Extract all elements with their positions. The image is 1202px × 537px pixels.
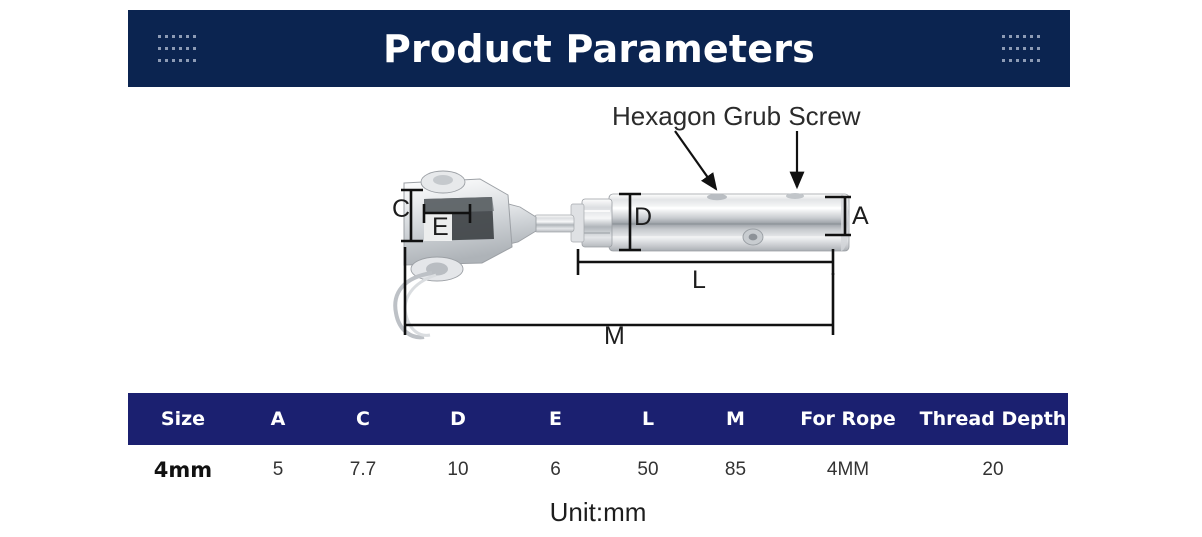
cell-a: 5: [238, 445, 318, 495]
grub-screw-hole-left: [707, 194, 727, 200]
split-ring-wire: [395, 273, 432, 337]
col-header-e: E: [508, 393, 603, 445]
dot-grid-decoration-left: [158, 35, 196, 62]
hex-collar: [582, 199, 612, 247]
spec-table: Size A C D E L M For Rope Thread Depth 4…: [128, 393, 1068, 495]
col-header-thread-depth: Thread Depth: [918, 393, 1068, 445]
dimension-label-D: D: [634, 205, 652, 230]
product-diagram-svg: [0, 87, 1202, 387]
spec-table-wrapper: Size A C D E L M For Rope Thread Depth 4…: [128, 393, 1068, 495]
page-title: Product Parameters: [128, 30, 1070, 68]
dimension-label-A: A: [852, 204, 869, 229]
col-header-l: L: [603, 393, 693, 445]
unit-note: Unit:mm: [128, 497, 1068, 528]
col-header-c: C: [318, 393, 408, 445]
dimension-label-E: E: [432, 215, 449, 240]
callout-arrow-left: [675, 131, 716, 189]
cell-d: 10: [408, 445, 508, 495]
dot-grid-decoration-right: [1002, 35, 1040, 62]
col-header-d: D: [408, 393, 508, 445]
grub-screw-hole-right: [786, 193, 804, 199]
dimension-label-M: M: [604, 324, 625, 349]
col-header-for-rope: For Rope: [778, 393, 918, 445]
cell-m: 85: [693, 445, 778, 495]
cell-c: 7.7: [318, 445, 408, 495]
page-header-banner: Product Parameters: [128, 10, 1070, 87]
col-header-m: M: [693, 393, 778, 445]
threaded-shank: [534, 215, 574, 232]
cell-e: 6: [508, 445, 603, 495]
dimension-label-L: L: [692, 268, 706, 293]
table-row: 4mm 5 7.7 10 6 50 85 4MM 20: [128, 445, 1068, 495]
cell-thread-depth: 20: [918, 445, 1068, 495]
col-header-a: A: [238, 393, 318, 445]
callout-label-hexagon-grub-screw: Hexagon Grub Screw: [612, 101, 861, 132]
spec-table-header-row: Size A C D E L M For Rope Thread Depth: [128, 393, 1068, 445]
dimension-label-C: C: [392, 197, 410, 222]
col-header-size: Size: [128, 393, 238, 445]
cell-l: 50: [603, 445, 693, 495]
product-diagram: Hexagon Grub Screw C E D A L M: [0, 87, 1202, 387]
cell-for-rope: 4MM: [778, 445, 918, 495]
cell-size: 4mm: [128, 445, 238, 495]
